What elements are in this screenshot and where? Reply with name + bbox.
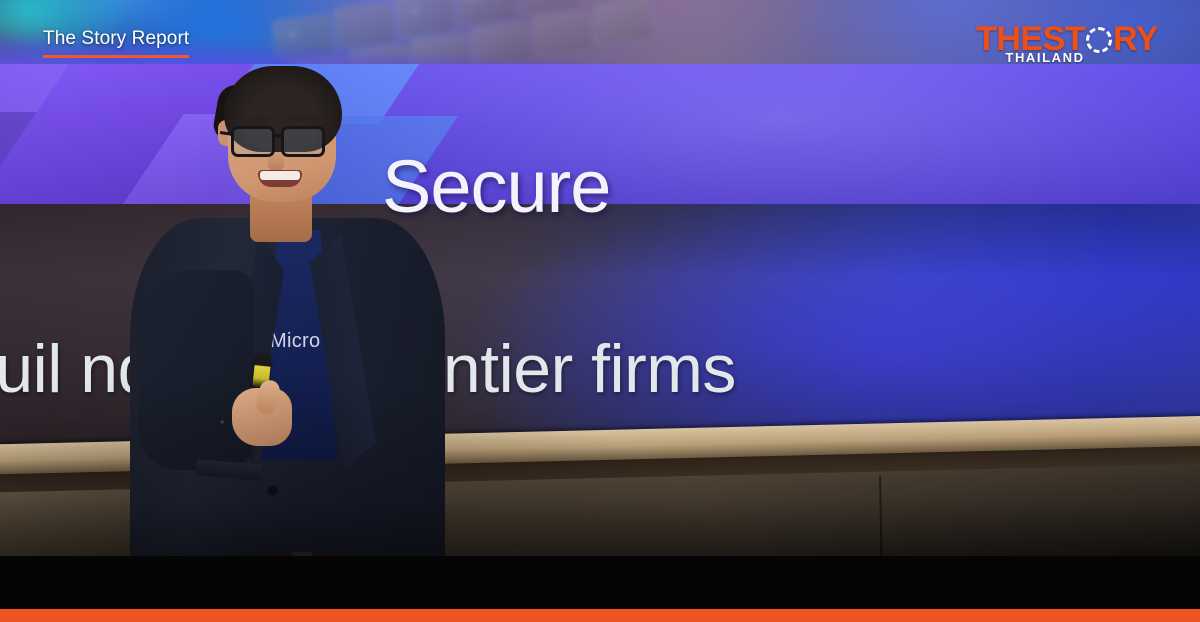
teeth (260, 171, 300, 180)
eyeglasses-bridge (274, 134, 283, 138)
logo-word-ry: RY (1113, 23, 1158, 55)
mouth (258, 170, 302, 187)
blazer-button (268, 486, 277, 495)
the-story-thailand-logo[interactable]: THE ST RY THAILAND (976, 23, 1158, 64)
footer-backdrop (0, 556, 1200, 610)
site-brand[interactable]: The Story Report (43, 28, 189, 58)
speaker-figure: Micro (120, 58, 450, 610)
site-title: The Story Report (43, 28, 189, 50)
footer-accent-bar (0, 609, 1200, 622)
eyeglasses-lens-right (281, 126, 325, 157)
dashed-circle-o-icon (1086, 27, 1112, 53)
eyeglasses-lens-left (231, 126, 275, 157)
stage-photograph: Secure buil nd’s next frontier firms Mic… (0, 58, 1200, 610)
left-arm (138, 270, 254, 470)
article-hero-image: 9 0 End PgUp The Story Report THE ST RY … (0, 0, 1200, 622)
brand-underline (43, 55, 189, 58)
top-banner: 9 0 End PgUp The Story Report THE ST RY … (0, 0, 1200, 64)
